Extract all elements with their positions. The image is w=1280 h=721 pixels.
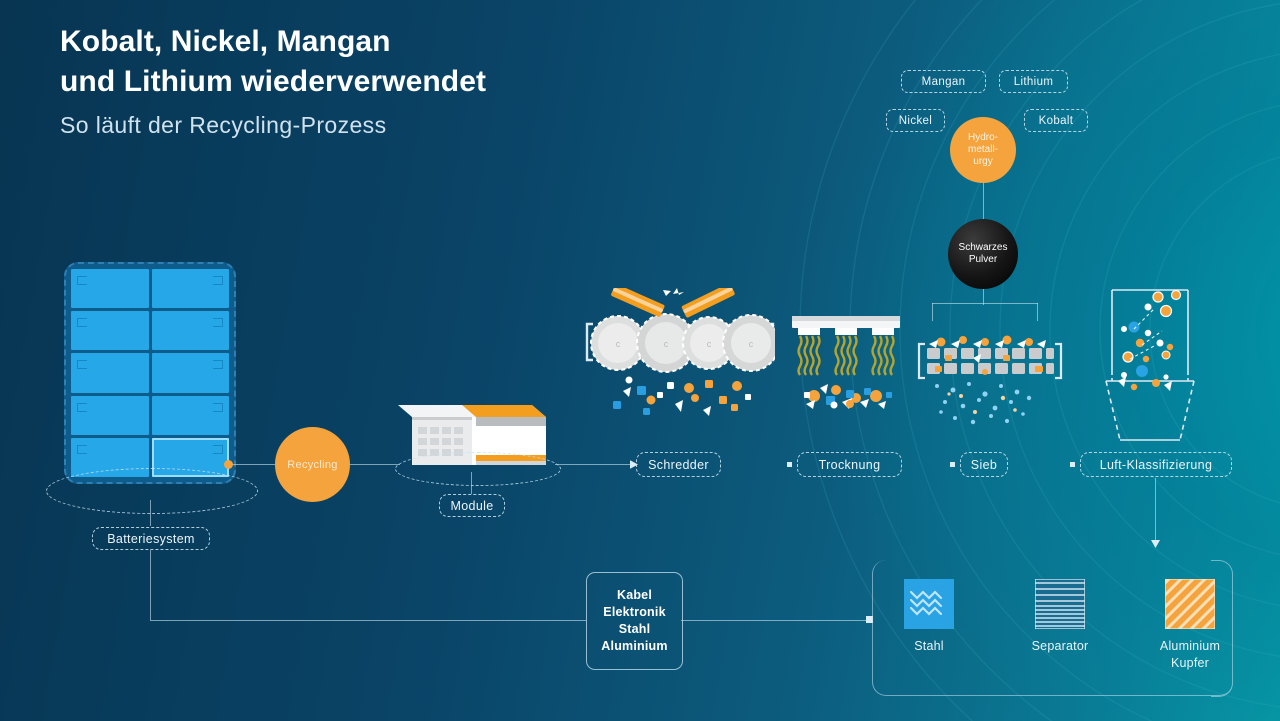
black-powder-node[interactable]: Schwarzes Pulver <box>948 219 1018 289</box>
label-text: Mangan <box>922 76 966 88</box>
label-sieb[interactable]: Sieb <box>960 452 1008 477</box>
battery-cell <box>152 269 230 308</box>
battery-cell <box>71 269 149 308</box>
aluminium-copper-hatch-swatch <box>1165 579 1215 629</box>
page-title: Kobalt, Nickel, Mangan und Lithium wiede… <box>60 22 486 102</box>
connector-bottom-left-riser <box>150 550 151 620</box>
connector-blackpowder-hydro <box>983 183 984 221</box>
output-pill-kobalt[interactable]: Kobalt <box>1024 109 1088 132</box>
infographic-canvas: Kobalt, Nickel, Mangan und Lithium wiede… <box>0 0 1280 721</box>
battery-cell <box>152 353 230 392</box>
output-pill-nickel[interactable]: Nickel <box>886 109 945 132</box>
label-text: Module <box>450 499 493 513</box>
byproducts-box[interactable]: Kabel Elektronik Stahl Aluminium <box>586 572 683 670</box>
label-text-line-2: Kupfer <box>1171 656 1209 670</box>
battery-cell <box>71 396 149 435</box>
label-batteriesystem[interactable]: Batteriesystem <box>92 527 210 550</box>
svg-text:c: c <box>707 339 712 349</box>
connector-sieb-bracket-left <box>932 303 933 321</box>
hydro-label-line-3: urgy <box>968 156 998 168</box>
hydro-label-line-1: Hydro- <box>968 132 998 144</box>
label-text: Schredder <box>648 458 709 472</box>
hydrometallurgy-node[interactable]: Hydro- metall- urgy <box>950 117 1016 183</box>
battery-base-ellipse <box>46 468 258 514</box>
connector-node-dot <box>224 460 233 469</box>
label-luft-klassifizierung[interactable]: Luft-Klassifizierung <box>1080 452 1232 477</box>
material-caption-aluminium-kupfer: Aluminium Kupfer <box>1130 638 1250 672</box>
connector-module-label <box>471 472 472 494</box>
title-line-1: Kobalt, Nickel, Mangan <box>60 25 391 58</box>
material-caption-stahl: Stahl <box>869 638 989 655</box>
battery-cell <box>152 396 230 435</box>
shredder-illustration: c c c c <box>585 288 775 423</box>
label-text: Kobalt <box>1039 115 1074 127</box>
label-module[interactable]: Module <box>439 494 505 517</box>
label-text: Nickel <box>899 115 932 127</box>
output-pill-mangan[interactable]: Mangan <box>901 70 986 93</box>
material-caption-separator: Separator <box>1000 638 1120 655</box>
connector-sieb-bracket <box>932 303 1038 304</box>
module-base-ellipse <box>395 452 561 486</box>
label-text: Luft-Klassifizierung <box>1100 458 1213 472</box>
label-text: Separator <box>1032 639 1089 653</box>
headline-block: Kobalt, Nickel, Mangan und Lithium wiede… <box>60 22 486 139</box>
label-text: Stahl <box>914 639 944 653</box>
arrow-down-icon <box>1150 540 1161 551</box>
battery-cell-grid <box>71 269 229 477</box>
byproduct-line-3: Stahl <box>619 621 651 638</box>
label-text: Sieb <box>971 458 997 472</box>
label-trocknung[interactable]: Trocknung <box>797 452 902 477</box>
svg-text:c: c <box>664 339 669 349</box>
battery-cell <box>152 311 230 350</box>
label-text: Trocknung <box>819 458 881 472</box>
trocknung-illustration <box>790 312 902 422</box>
black-powder-line-2: Pulver <box>959 254 1008 267</box>
page-subtitle: So läuft der Recycling-Prozess <box>60 112 486 139</box>
title-line-2: und Lithium wiederverwendet <box>60 65 486 98</box>
recycling-label: Recycling <box>287 459 337 471</box>
connector-byprod-to-materials <box>681 620 871 621</box>
step-marker <box>950 462 955 467</box>
sieb-illustration <box>915 328 1065 433</box>
step-marker <box>1070 462 1075 467</box>
svg-text:c: c <box>616 339 621 349</box>
recycling-node[interactable]: Recycling <box>275 427 350 502</box>
svg-text:c: c <box>749 339 754 349</box>
label-text: Batteriesystem <box>107 532 195 546</box>
connector-battery-recycling <box>228 464 277 465</box>
battery-cell <box>71 311 149 350</box>
connector-bottom-left-line <box>150 620 586 621</box>
hydro-label-line-2: metall- <box>968 144 998 156</box>
black-powder-line-1: Schwarzes <box>959 242 1008 255</box>
connector-module-schredder <box>555 464 635 465</box>
label-text: Lithium <box>1014 76 1054 88</box>
byproduct-line-4: Aluminium <box>601 638 667 655</box>
battery-cell <box>71 353 149 392</box>
luft-klassifizierung-illustration <box>1104 285 1196 450</box>
separator-stripes-swatch <box>1035 579 1085 629</box>
connector-recycling-module <box>350 464 400 465</box>
byproduct-line-1: Kabel <box>617 587 652 604</box>
output-pill-lithium[interactable]: Lithium <box>999 70 1068 93</box>
connector-battery-label <box>150 500 151 526</box>
connector-sieb-bracket-right <box>1037 303 1038 321</box>
battery-system-illustration <box>64 262 236 484</box>
label-schredder[interactable]: Schredder <box>636 452 721 477</box>
byproduct-line-2: Elektronik <box>603 604 665 621</box>
label-text-line-1: Aluminium <box>1160 639 1220 653</box>
steel-wave-swatch <box>904 579 954 629</box>
connector-luft-down <box>1155 478 1156 542</box>
step-marker <box>787 462 792 467</box>
